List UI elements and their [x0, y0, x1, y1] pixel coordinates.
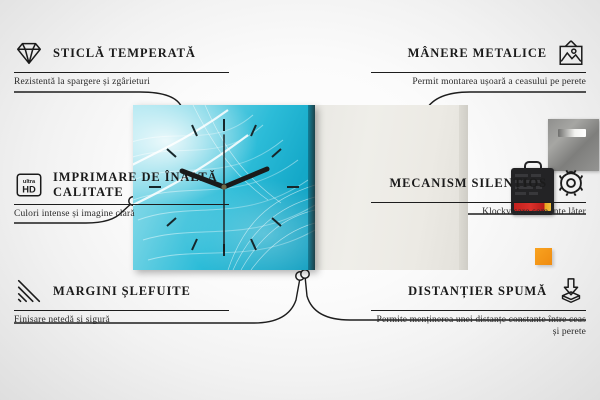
- feature-description: Finisare netedă și sigură: [14, 314, 229, 326]
- feature-glass: STICLĂ TEMPERATĂ Rezistentă la spargere …: [14, 38, 229, 88]
- feature-title: DISTANȚIER SPUMĂ: [408, 284, 547, 299]
- press-down-pad-icon: [556, 276, 586, 306]
- bracket-slot: [558, 129, 586, 137]
- divider: [14, 204, 229, 205]
- feature-title: IMPRIMARE DE ÎNALTĂ CALITATE: [53, 170, 229, 200]
- feature-spacer: DISTANȚIER SPUMĂ Permite menținerea unei…: [371, 276, 586, 338]
- feature-hooks: MÂNERE METALICE Permit montarea ușoară a…: [371, 38, 586, 88]
- polished-edge-icon: [14, 276, 44, 306]
- divider: [371, 202, 586, 203]
- divider: [371, 310, 586, 311]
- feature-description: Permite menținerea unei distanțe constan…: [371, 314, 586, 338]
- divider: [14, 72, 229, 73]
- divider: [371, 72, 586, 73]
- feature-mechanism: MECANISM SILENȚIOS Klockvisare som inte …: [371, 168, 586, 218]
- metal-hanger-bracket: [548, 119, 599, 171]
- feature-description: Permit montarea ușoară a ceasului pe per…: [371, 76, 586, 88]
- feature-title: MECANISM SILENȚIOS: [389, 176, 547, 191]
- feature-title: STICLĂ TEMPERATĂ: [53, 46, 196, 61]
- feature-description: Klockvisare som inte låter: [371, 206, 586, 218]
- foam-spacer: [535, 248, 552, 265]
- divider: [14, 310, 229, 311]
- feature-edges: MARGINI ȘLEFUITE Finisare netedă și sigu…: [14, 276, 229, 326]
- glass-edge: [308, 105, 315, 270]
- diamond-icon: [14, 38, 44, 68]
- feature-title: MÂNERE METALICE: [408, 46, 547, 61]
- gear-icon: [556, 168, 586, 198]
- feature-description: Rezistentă la spargere și zgârieturi: [14, 76, 229, 88]
- picture-frame-hanger-icon: [556, 38, 586, 68]
- ultra-hd-icon: ultra HD: [14, 170, 44, 200]
- feature-title: MARGINI ȘLEFUITE: [53, 284, 191, 299]
- feature-description: Culori intense și imagine clară: [14, 208, 229, 220]
- wire-node-spacer: [301, 270, 309, 278]
- svg-text:HD: HD: [22, 185, 36, 195]
- infographic-stage: STICLĂ TEMPERATĂ Rezistentă la spargere …: [0, 0, 600, 400]
- feature-print: ultra HD IMPRIMARE DE ÎNALTĂ CALITATE Cu…: [14, 170, 229, 220]
